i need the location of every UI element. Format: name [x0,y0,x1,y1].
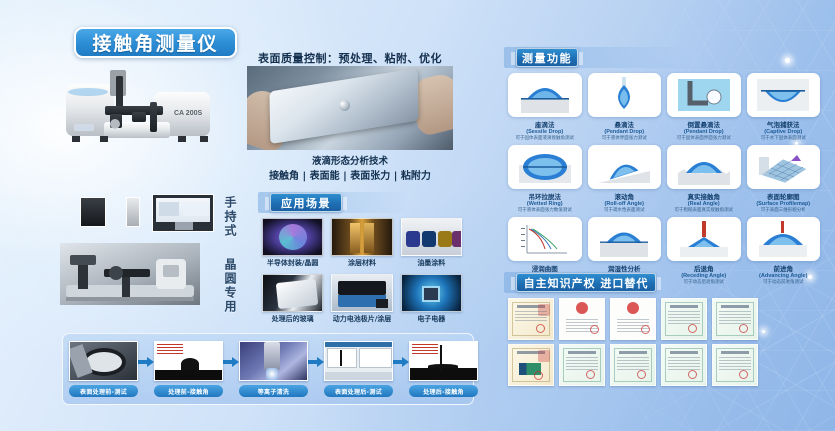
post-treatment-test-image [324,341,393,381]
page-title: 接触角测量仪 [74,27,237,58]
application-grid: 半导体封装/晶圆 涂层材料 油墨涂料 [262,218,462,324]
application-caption: 动力电池极片/涂层 [331,314,392,324]
function-desc: 可于粗糙表面真实接触角测试 [667,207,741,213]
certificate-emblem [576,302,588,314]
certificate-item[interactable] [559,298,605,340]
application-item[interactable]: 油墨涂料 [401,218,462,268]
surface-subtitle-metrics: 接触角 | 表面能 | 表面张力 | 粘附力 [247,167,453,182]
ink-coating-image [401,218,462,256]
surface-subtitle-technology: 液滴形态分析技术 [247,153,453,167]
application-item[interactable]: 处理后的玻璃 [262,274,323,324]
certificate-item[interactable] [508,298,554,340]
process-arrow [308,357,324,367]
process-step-label: 表面处理前-测试 [69,385,138,397]
certificate-item[interactable] [712,344,758,386]
accessory-photo-2 [126,197,140,227]
function-desc: 可于固体表面液滴接触角测试 [508,135,582,141]
treated-glass-image [262,274,323,312]
captive-bubble-icon [747,73,821,117]
process-step[interactable]: 处理前-接触角 [154,341,223,397]
process-step-label: 表面处理后-测试 [324,385,393,397]
certificate-title-bar [670,305,698,308]
certificate-item[interactable] [508,344,554,386]
application-item[interactable]: 半导体封装/晶圆 [262,218,323,268]
certificate-item[interactable] [661,344,707,386]
certificate-title-bar [619,351,647,354]
application-caption: 处理后的玻璃 [262,314,323,324]
function-item[interactable]: 真实接触角 (Real Angle) 可于粗糙表面真实接触角测试 [667,145,741,213]
certificates-grid [508,298,758,386]
certificate-seal [590,325,599,334]
contact-angle-meter-photo: CA 200S [58,62,218,167]
electronics-pcb-image [401,274,462,312]
accessory-photo-1 [80,197,106,227]
certificate-item[interactable] [610,298,656,340]
function-desc: 可于液体界面张力测试 [588,135,662,141]
function-name-cn: 座滴法 [508,119,582,129]
application-item[interactable]: 涂层材料 [331,218,392,268]
certificate-title-bar [670,351,698,354]
certificate-text-lines [668,357,700,372]
certificate-title-bar [568,351,596,354]
poster-root: 接触角测量仪 [0,0,835,431]
wafer-stage-photo [60,243,200,305]
application-caption: 涂层材料 [331,258,392,268]
certificates-header: 自主知识产权 进口替代 [516,273,656,292]
certificate-item[interactable] [559,344,605,386]
application-scenarios-header: 应用场景 [270,193,342,212]
immersogram-chart-icon [508,217,582,261]
function-item[interactable]: 表面轮廓图 (Surface Profilemap) 可于表面三维形貌分析 [747,145,821,213]
inverted-pendant-drop-icon [667,73,741,117]
certificate-emblem [627,302,639,314]
certificate-title-bar [721,351,749,354]
certificate-text-lines [515,311,547,323]
certificate-item[interactable] [610,344,656,386]
certificates-section: 自主知识产权 进口替代 [508,272,820,397]
application-item[interactable]: 动力电池极片/涂层 [331,274,392,324]
measurement-functions-grid: 座滴法 (Sessile Drop) 可于固体表面液滴接触角测试 悬滴法 (Pe… [508,73,820,285]
process-step[interactable]: 表面处理前-测试 [69,341,138,397]
function-name-cn: 真实接触角 [667,191,741,201]
function-name-cn: 悬滴法 [588,119,662,129]
plasma-cleaning-image [239,341,308,381]
application-caption: 半导体封装/晶圆 [262,258,323,268]
certificate-item[interactable] [661,298,707,340]
roll-off-angle-icon [588,145,662,189]
function-name-cn: 气泡捕获法 [747,119,821,129]
application-item[interactable]: 电子电器 [401,274,462,324]
label-handheld: 手持式 [222,196,239,238]
function-name-cn: 倒置悬滴法 [667,119,741,129]
certificate-seal [536,324,545,333]
certificate-text-lines [566,357,598,372]
process-arrow [393,357,409,367]
function-name-cn: 表面轮廓图 [747,191,821,201]
battery-electrode-image [331,274,392,312]
receding-angle-icon [667,217,741,261]
process-step[interactable]: 处理后-接触角 [409,341,478,397]
function-desc: 可于液体表面张力数值测试 [508,207,582,213]
certificate-text-lines [719,311,751,326]
function-desc: 可于表面三维形貌分析 [747,207,821,213]
certificate-stamp [538,350,550,362]
process-step-label: 等离子清洗 [239,385,308,397]
function-desc: 可于水下固体表面测试 [747,135,821,141]
process-arrow [223,357,239,367]
function-item[interactable]: 座滴法 (Sessile Drop) 可于固体表面液滴接触角测试 [508,73,582,141]
application-caption: 电子电器 [401,314,462,324]
function-item[interactable]: 吊环拉脱法 (Wetted Ring) 可于液体表面张力数值测试 [508,145,582,213]
function-item[interactable]: 气泡捕获法 (Captive Drop) 可于水下固体表面测试 [747,73,821,141]
process-step[interactable]: 表面处理后-测试 [324,341,393,397]
function-desc: 可于固体表面界面张力测试 [667,135,741,141]
workstation-photo [152,194,214,232]
process-step[interactable]: 等离子清洗 [239,341,308,397]
real-contact-angle-icon [667,145,741,189]
advancing-angle-icon [747,217,821,261]
certificate-text-lines [668,311,700,326]
process-step-label: 处理前-接触角 [154,385,223,397]
pre-treatment-angle-image [154,341,223,381]
wafer-image [262,218,323,256]
function-name-cn: 吊环拉脱法 [508,191,582,201]
function-item[interactable]: 滚动角 (Roll-off Angle) 可于疏水性表面测试 [588,145,662,213]
function-desc: 可于疏水性表面测试 [588,207,662,213]
pre-treatment-test-image [69,341,138,381]
process-flow-strip: 表面处理前-测试 处理前-接触角 等离子清洗 [62,333,474,405]
glass-sheet-photo [247,66,453,150]
application-caption: 油墨涂料 [401,258,462,268]
label-wafer-dedicated: 晶圆专用 [222,258,239,314]
wetted-ring-icon [508,145,582,189]
coating-material-image [331,218,392,256]
post-treatment-angle-image [409,341,478,381]
certificate-item[interactable] [712,298,758,340]
device-model-label: CA 200S [174,110,202,117]
function-item[interactable]: 悬滴法 (Pendant Drop) 可于液体界面张力测试 [588,73,662,141]
surface-profilemap-icon [747,145,821,189]
certificate-seal [641,325,650,334]
process-arrow [138,357,154,367]
surface-quality-panel: 表面质量控制：预处理、粘附、优化 液滴形态分析技术 接触角 | 表面能 | 表面… [247,50,453,182]
certificate-text-lines [617,357,649,372]
measurement-functions-header: 测量功能 [516,48,578,67]
certificate-text-lines [719,357,751,372]
process-step-label: 处理后-接触角 [409,385,478,397]
application-scenarios-section: 应用场景 半导体封装/晶圆 涂层材料 [262,192,462,317]
wetting-envelope-icon [588,217,662,261]
pendant-drop-icon [588,73,662,117]
surface-quality-title: 表面质量控制：预处理、粘附、优化 [247,50,453,66]
function-name-cn: 滚动角 [588,191,662,201]
measurement-functions-section: 测量功能 座滴法 (Sessile Drop) 可于固体表面液滴接触角测试 [508,47,820,262]
certificate-title-bar [721,305,749,308]
sessile-drop-icon [508,73,582,117]
function-item[interactable]: 倒置悬滴法 (Pendant Drop) 可于固体表面界面张力测试 [667,73,741,141]
